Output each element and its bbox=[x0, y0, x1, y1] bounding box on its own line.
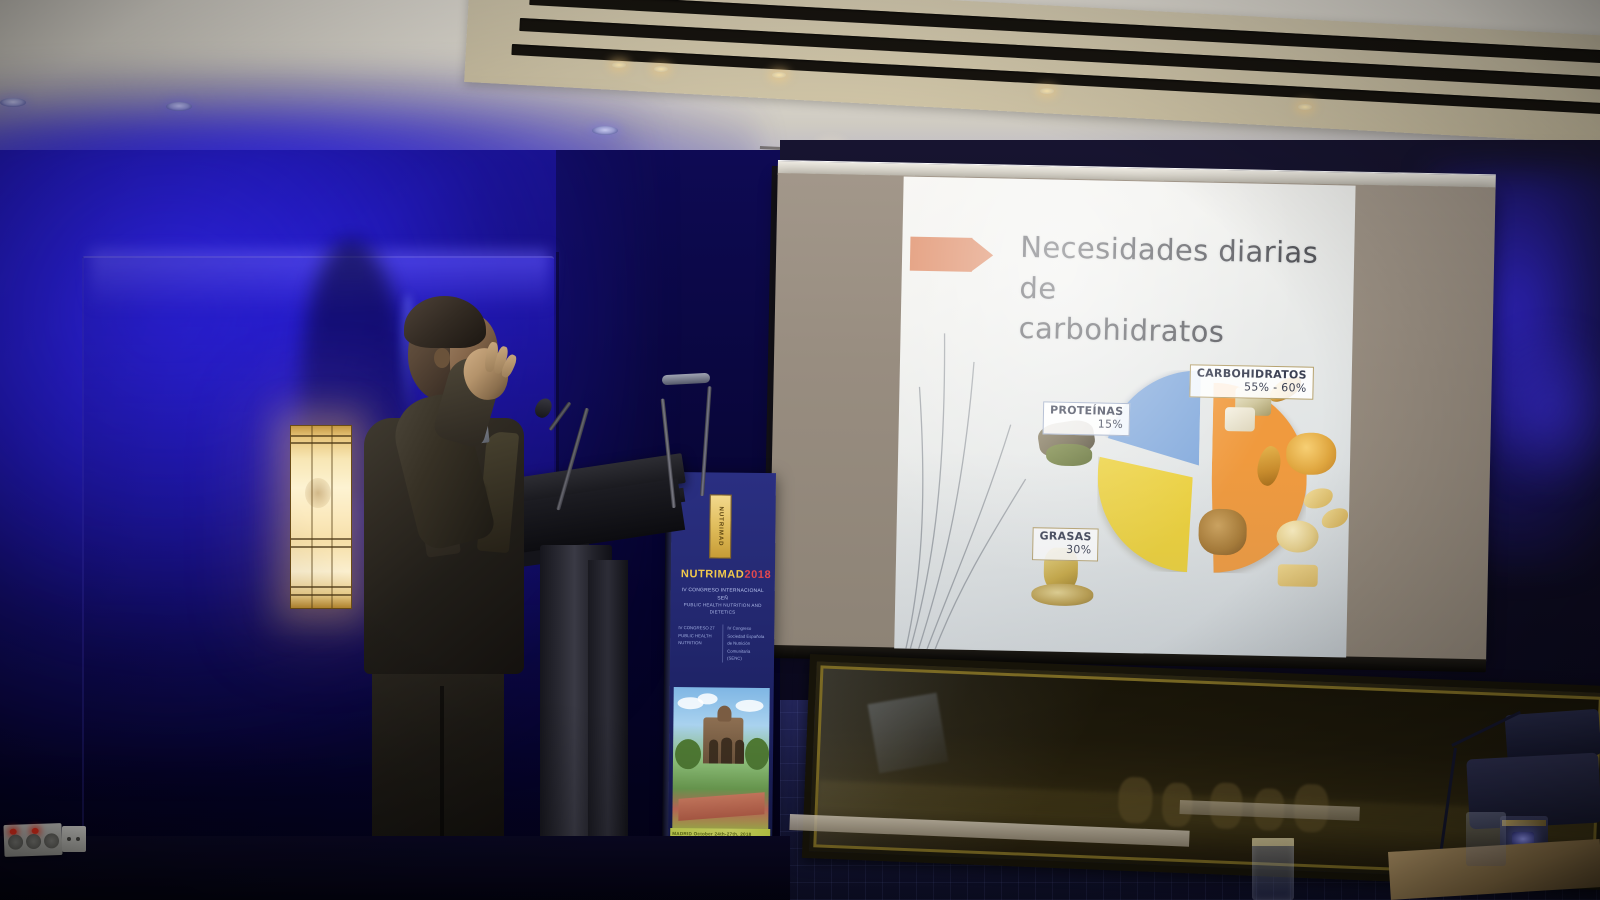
speaker-person bbox=[346, 286, 646, 900]
pie-body bbox=[1106, 377, 1300, 571]
banner-brand-year: 2018 bbox=[744, 569, 771, 581]
recessed-downlight bbox=[166, 102, 192, 111]
pie-label-grasas: GRASAS 30% bbox=[1032, 527, 1099, 561]
wall-socket bbox=[62, 826, 86, 852]
beam-spotlight bbox=[1298, 104, 1312, 110]
banner-column-right: IV Congreso Sociedad Española de Nutrici… bbox=[722, 625, 766, 663]
food-cheese-image bbox=[1225, 407, 1255, 432]
banner-brand: NUTRIMAD2018 bbox=[681, 568, 765, 581]
power-strip bbox=[3, 823, 62, 857]
pie-label-proteinas: PROTEÍNAS 15% bbox=[1043, 401, 1131, 436]
pie-label-percent: 55% - 60% bbox=[1196, 380, 1306, 395]
banner-subtitle-1: IV CONGRESO INTERNACIONAL SEÑ bbox=[677, 587, 769, 603]
slide-title-line-2: carbohidratos bbox=[1018, 308, 1339, 355]
food-nuts-image bbox=[1198, 509, 1247, 556]
banner-logo-icon: NUTRIMAD bbox=[709, 494, 732, 558]
projection-screen: Necesidades diarias de carbohidratos bbox=[768, 160, 1496, 674]
beam-spotlight bbox=[772, 72, 786, 78]
pie-label-percent: 15% bbox=[1050, 417, 1124, 431]
decorative-wall-sconce bbox=[290, 425, 352, 609]
banner-subtitle-2: PUBLIC HEALTH NUTRITION AND DIETETICS bbox=[674, 602, 770, 617]
food-roll-image bbox=[1319, 505, 1352, 532]
slide-title-line-1: Necesidades diarias de bbox=[1019, 227, 1341, 315]
beam-spotlight bbox=[654, 66, 668, 72]
back-wall-blue-wash bbox=[1480, 330, 1600, 490]
food-olive-oil-base-image bbox=[1031, 583, 1093, 606]
pie-label-percent: 30% bbox=[1039, 543, 1091, 557]
speaker-hair bbox=[404, 296, 486, 348]
banner-monument-photo bbox=[672, 687, 770, 833]
food-bun-image bbox=[1276, 520, 1319, 553]
beam-spotlight bbox=[1040, 88, 1054, 94]
photo-walkway bbox=[678, 792, 764, 821]
food-honeycomb-image bbox=[1286, 432, 1337, 475]
food-cake-image bbox=[1278, 564, 1318, 587]
banner-logo-text: NUTRIMAD bbox=[710, 495, 731, 557]
speaker-ear bbox=[434, 348, 450, 368]
banner-info-columns: IV CONGRESO 27 PUBLIC HEALTH NUTRITION I… bbox=[678, 624, 766, 662]
recessed-downlight bbox=[0, 98, 26, 107]
fixture-top-bar bbox=[1502, 820, 1546, 826]
floor-left bbox=[0, 836, 790, 900]
food-greens-image bbox=[1046, 443, 1092, 466]
pie-label-carbohidratos: CARBOHIDRATOS 55% - 60% bbox=[1189, 364, 1314, 399]
slide-title: Necesidades diarias de carbohidratos bbox=[1018, 227, 1340, 355]
macronutrient-pie-chart: CARBOHIDRATOS 55% - 60% PROTEÍNAS 15% GR… bbox=[1027, 359, 1332, 635]
glass-object bbox=[1252, 838, 1294, 900]
projected-slide: Necesidades diarias de carbohidratos bbox=[894, 177, 1355, 658]
banner-brand-name: NUTRIMAD bbox=[681, 568, 745, 581]
food-roll-image bbox=[1301, 485, 1335, 512]
banner-column-left: IV CONGRESO 27 PUBLIC HEALTH NUTRITION bbox=[678, 624, 717, 662]
conference-presentation-photo: Necesidades diarias de carbohidratos bbox=[0, 0, 1600, 900]
monument-dome bbox=[717, 705, 731, 721]
glass-object bbox=[1466, 812, 1506, 866]
beam-spotlight bbox=[612, 62, 626, 68]
